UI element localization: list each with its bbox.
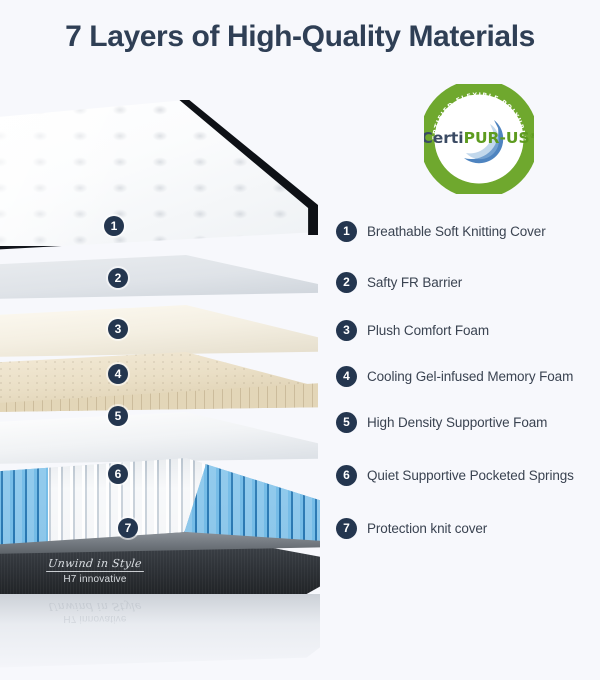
legend-badge-1: 1 — [336, 221, 357, 242]
legend-item-2: 2 Safty FR Barrier — [336, 272, 462, 293]
certipur-us-badge: CONTAINS CERTIFIED FLEXIBLE POLYURETHANE… — [424, 84, 534, 194]
legend-item-6: 6 Quiet Supportive Pocketed Springs — [336, 465, 574, 486]
legend-label-1: Breathable Soft Knitting Cover — [367, 224, 546, 239]
mattress-layer-stack: 1 2 3 4 5 6 Unwind in Style H7 innovativ… — [0, 100, 340, 580]
legend-badge-3: 3 — [336, 320, 357, 341]
legend-badge-5: 5 — [336, 412, 357, 433]
legend-item-7: 7 Protection knit cover — [336, 518, 487, 539]
mattress-reflection-brand: H7 innovative Unwind in Style — [40, 600, 150, 624]
reflection-brand-sub: H7 innovative — [40, 613, 150, 624]
stack-badge-3: 3 — [108, 319, 128, 339]
layer-6-quiet-supportive-pocketed-springs — [0, 458, 320, 546]
badge-wordmark: CertiPUR-US® — [424, 129, 534, 147]
legend-label-7: Protection knit cover — [367, 521, 487, 536]
stack-badge-2: 2 — [108, 268, 128, 288]
legend-badge-4: 4 — [336, 366, 357, 387]
legend-label-3: Plush Comfort Foam — [367, 323, 489, 338]
legend-badge-6: 6 — [336, 465, 357, 486]
stack-badge-5: 5 — [108, 406, 128, 426]
layer-3-plush-comfort-foam — [0, 305, 318, 357]
legend-label-4: Cooling Gel-infused Memory Foam — [367, 369, 573, 384]
legend-label-6: Quiet Supportive Pocketed Springs — [367, 468, 574, 483]
stack-badge-1: 1 — [104, 216, 124, 236]
stack-badge-6: 6 — [108, 464, 128, 484]
stack-badge-4: 4 — [108, 364, 128, 384]
reflection-brand-script: Unwind in Style — [39, 600, 150, 613]
legend-item-5: 5 High Density Supportive Foam — [336, 412, 547, 433]
legend-item-1: 1 Breathable Soft Knitting Cover — [336, 221, 546, 242]
spring-coils-blue-left — [0, 458, 48, 546]
legend-label-2: Safty FR Barrier — [367, 275, 462, 290]
layer-5-high-density-supportive-foam — [0, 412, 318, 464]
legend-badge-2: 2 — [336, 272, 357, 293]
legend-label-5: High Density Supportive Foam — [367, 415, 547, 430]
layer-2-safty-fr-barrier — [0, 255, 318, 299]
legend-item-3: 3 Plush Comfort Foam — [336, 320, 489, 341]
legend-item-4: 4 Cooling Gel-infused Memory Foam — [336, 366, 573, 387]
infographic-canvas: 7 Layers of High-Quality Materials CONTA… — [0, 0, 600, 600]
page-title: 7 Layers of High-Quality Materials — [0, 20, 600, 54]
stack-badge-7: 7 — [118, 518, 138, 538]
legend-badge-7: 7 — [336, 518, 357, 539]
